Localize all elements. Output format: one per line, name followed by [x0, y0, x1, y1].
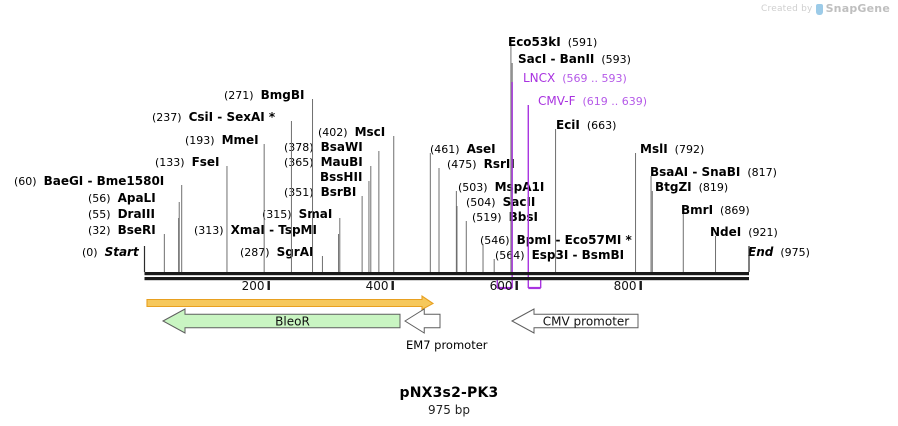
feature-arrows: BleoRCMV promoter [163, 309, 638, 333]
ruler-tick [516, 281, 518, 290]
plasmid-linear-map: 200400600800BleoRCMV promoter [0, 0, 898, 426]
ruler-tick-label: 200 [242, 279, 265, 293]
feature-label-promoter: EM7 promoter [406, 338, 488, 352]
primer-leader-lines [497, 82, 540, 288]
feature-label: CMV promoter [543, 315, 630, 329]
plasmid-name: pNX3s2-PK3 [0, 385, 898, 401]
plasmid-title-block: pNX3s2-PK3 975 bp [0, 385, 898, 417]
ruler-tick [640, 281, 642, 290]
orf-arrow-shape [147, 296, 433, 310]
backbone-rail-bottom [145, 277, 750, 280]
leader-lines [145, 46, 750, 272]
ruler: 200400600800 [242, 279, 642, 293]
ruler-tick [392, 281, 394, 290]
ruler-tick [268, 281, 270, 290]
ruler-tick-label: 600 [490, 279, 513, 293]
feature-arrow-promoter[interactable] [405, 309, 440, 333]
orf-arrow [147, 296, 433, 310]
backbone-rail-top [145, 272, 750, 275]
feature-label: BleoR [275, 315, 310, 329]
plasmid-length: 975 bp [0, 403, 898, 417]
ruler-tick-label: 400 [366, 279, 389, 293]
ruler-tick-label: 800 [614, 279, 637, 293]
sequence-backbone [145, 272, 750, 280]
